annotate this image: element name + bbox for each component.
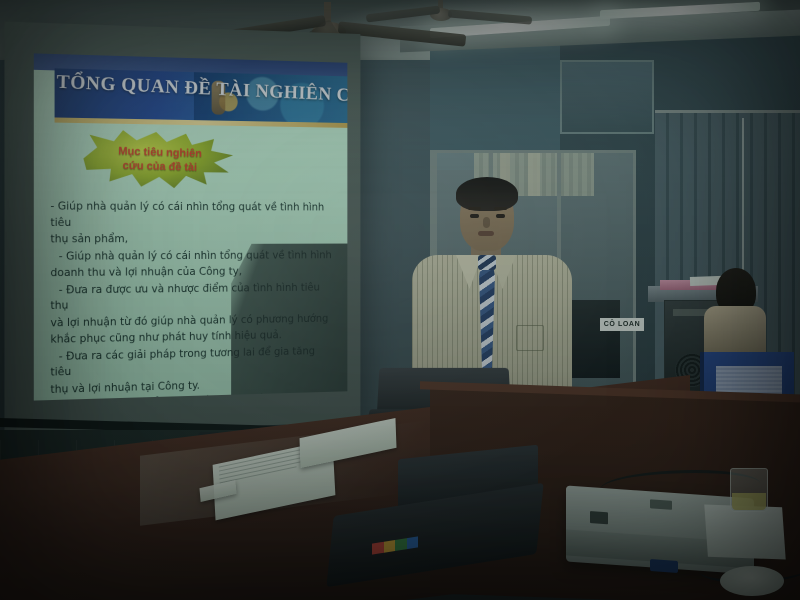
tea-liquid [732,493,766,510]
eyebrow-right [494,207,507,210]
presentation-slide: TỔNG QUAN ĐỀ TÀI NGHIÊN CỨU Mục tiêu ngh… [34,53,348,400]
napkin [704,505,785,560]
starburst-callout-text: Mục tiêu nghiên cứu của đề tài [93,143,225,175]
nose [483,217,490,228]
name-placard: CÔ LOAN [600,318,644,331]
projection-screen: TỔNG QUAN ĐỀ TÀI NGHIÊN CỨU Mục tiêu ngh… [4,22,360,435]
far-window [560,60,654,134]
mouth [478,231,494,236]
photo-scene: TỔNG QUAN ĐỀ TÀI NGHIÊN CỨU Mục tiêu ngh… [0,0,800,600]
saucer [720,566,784,596]
tea-glass [730,468,768,512]
hair [456,177,518,211]
eye-right [496,214,505,218]
projector-connector [650,559,678,573]
screen-occlusion-shadow [231,243,347,400]
necktie-knot [478,255,496,270]
slide-bullet-line: - Giúp nhà quản lý có cái nhìn tổng quát… [50,199,336,231]
eye-left [470,214,479,218]
eyebrow-left [468,207,481,210]
shirt-pocket [516,325,544,351]
seated-attendee-body [704,306,766,354]
ceiling-fan-far [390,0,540,42]
name-placard-text: CÔ LOAN [604,321,640,328]
